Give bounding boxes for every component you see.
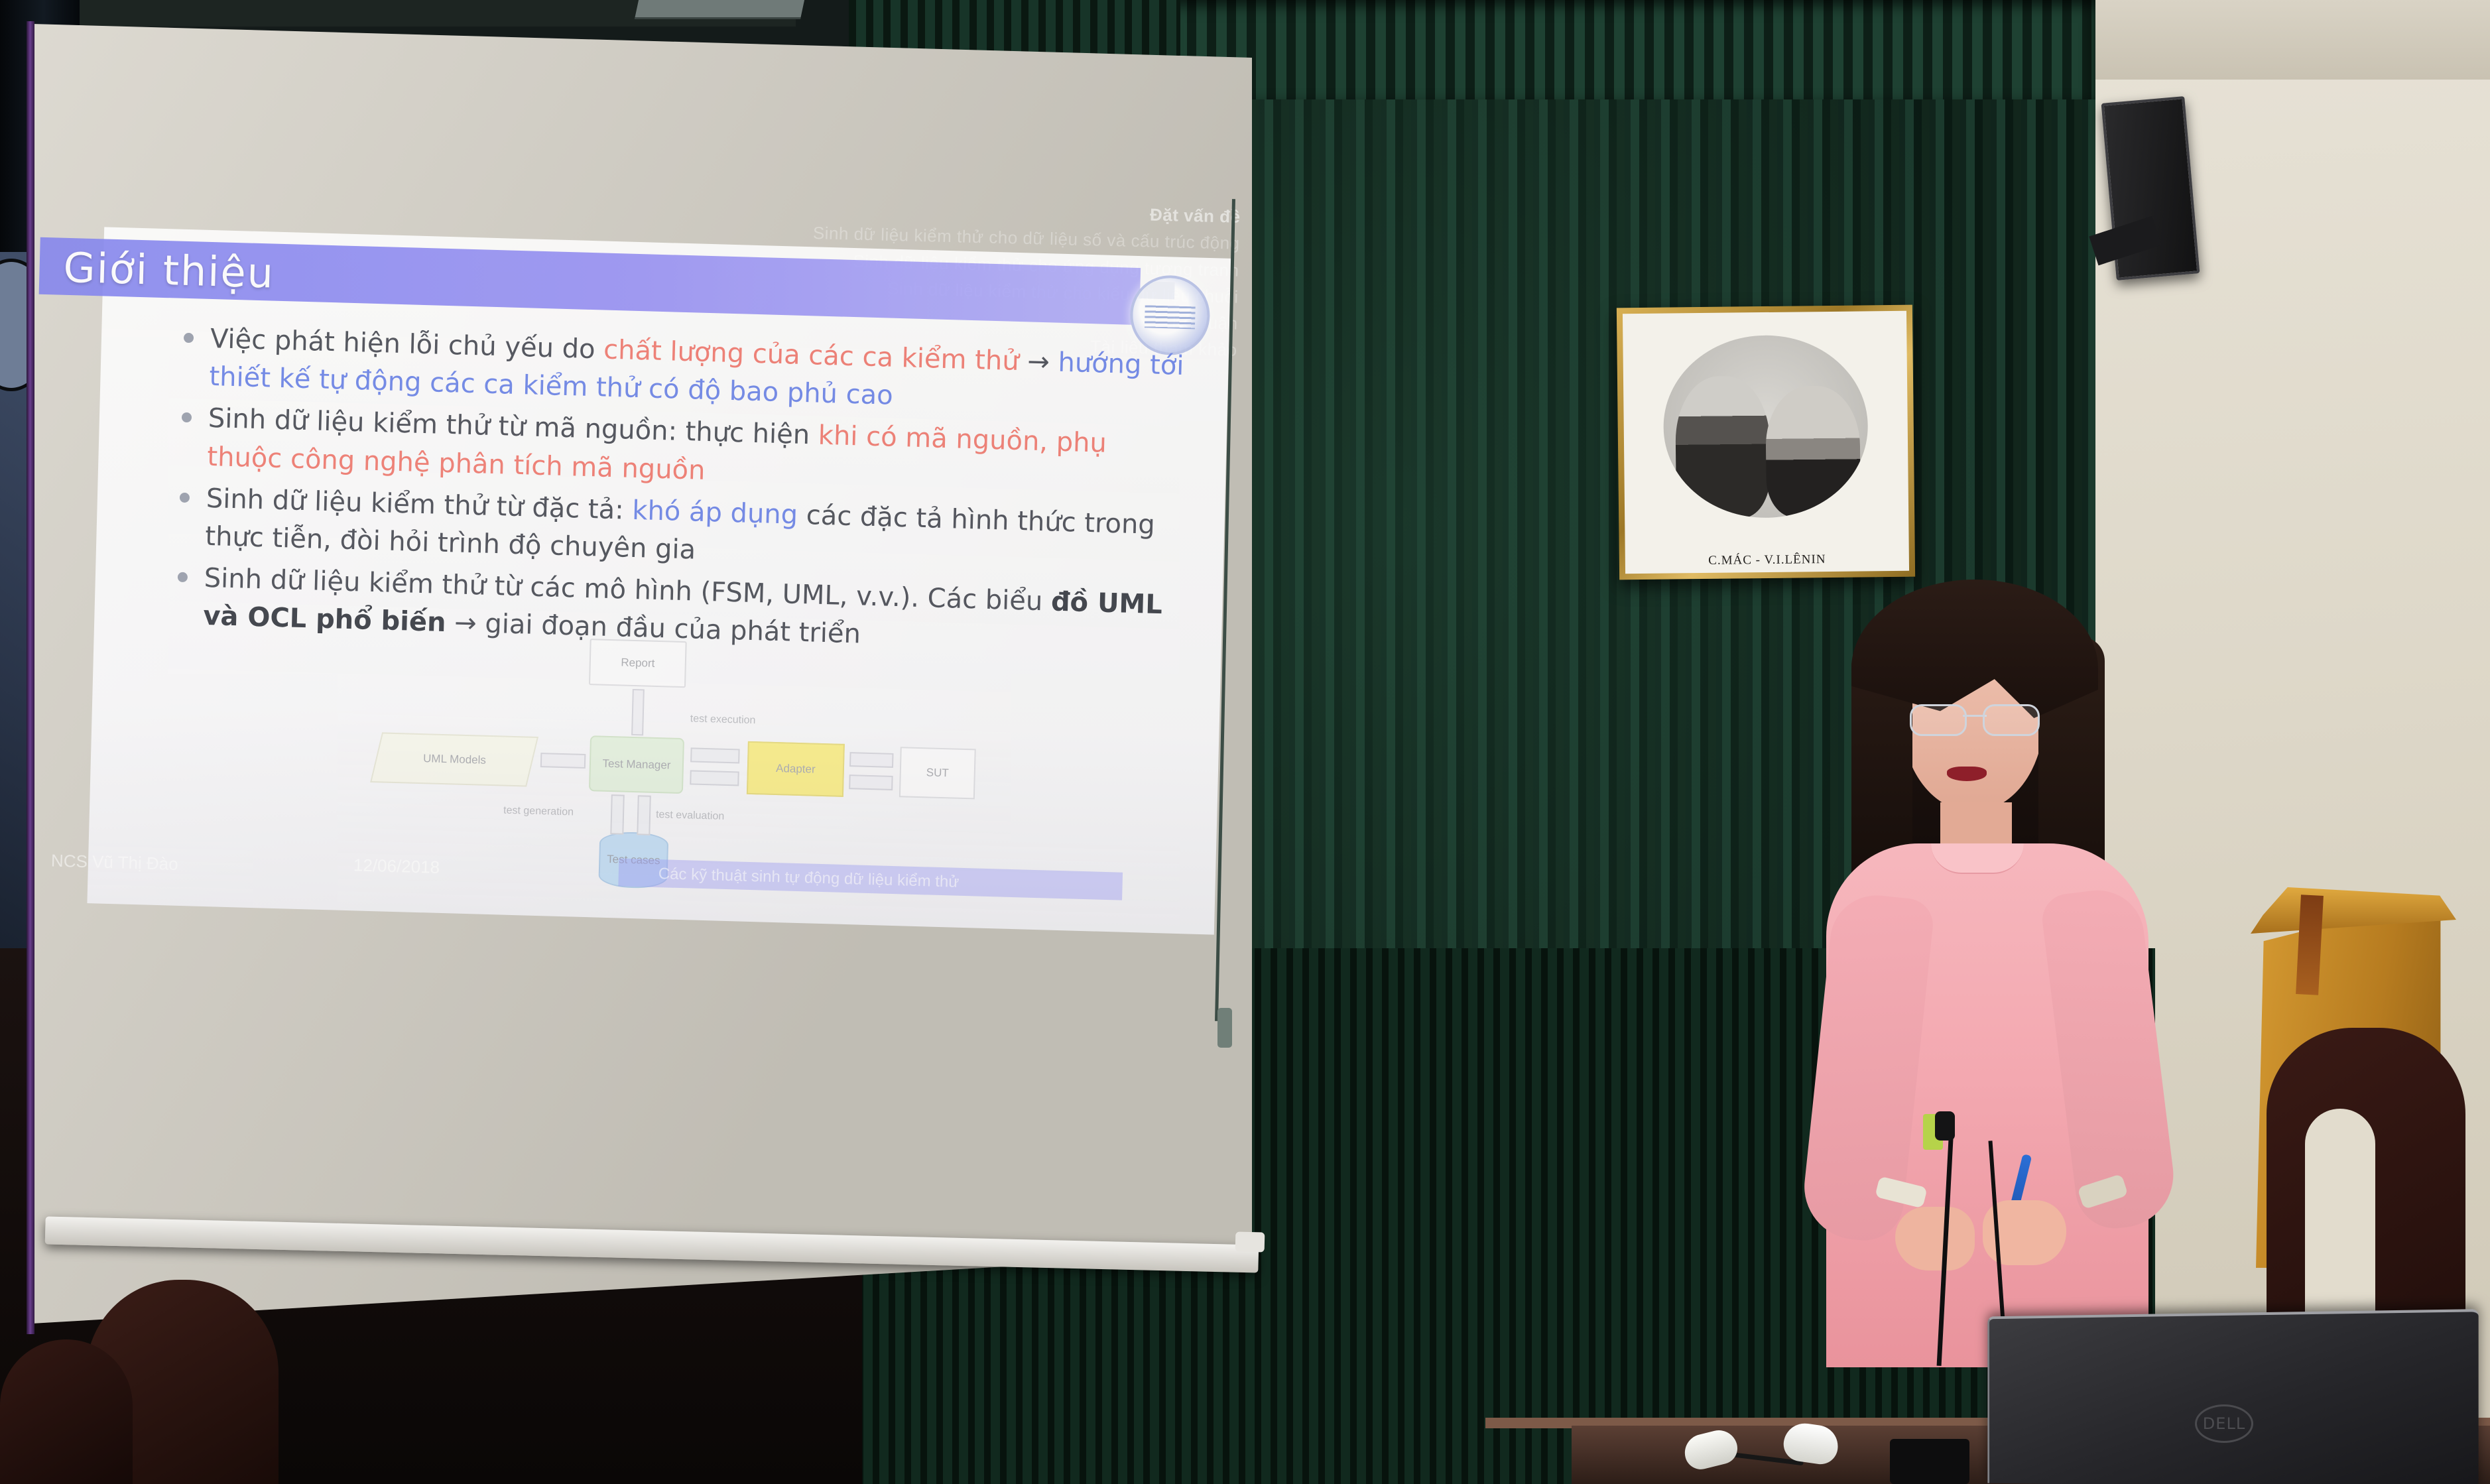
bullet-dot-icon <box>180 493 190 503</box>
logo-bars-shape <box>1145 305 1196 329</box>
active-slide: Giới thiệu Việc phát hiện lỗi chủ yếu do… <box>87 227 1231 934</box>
diagram-arrow-tm-to-testcases <box>610 794 625 835</box>
portrait-mat: C.MÁC - V.I.LÊNIN <box>1623 311 1909 574</box>
diagram-arrow-adapter-to-sut <box>849 752 894 768</box>
slide-footer-running-title: Các kỹ thuật sinh tự động dữ liệu kiểm t… <box>658 865 959 892</box>
bullet-0-seg-0: Việc phát hiện lỗi chủ yếu do <box>210 324 603 365</box>
slide-footer-date: 12/06/2018 <box>353 855 440 878</box>
presenter-glasses <box>1910 704 2040 733</box>
chair-left-secondary <box>0 1339 133 1484</box>
logo-flag-shape <box>1139 281 1175 299</box>
diagram-label-test-execution: test execution <box>690 713 756 727</box>
microphone-head <box>1935 1111 1955 1141</box>
screen-cord-handle[interactable] <box>1217 1008 1232 1048</box>
bullet-2-seg-1: khó áp dụng <box>632 495 798 530</box>
screen-left-edge <box>27 21 34 1334</box>
dell-logo-icon: DELL <box>2195 1404 2253 1443</box>
diagram-test-manager-label: Test Manager <box>602 757 670 772</box>
projection-screen: Đặt vấn đề Sinh dữ liệu kiểm thử cho dữ … <box>32 24 1252 1350</box>
curtain-top-fold <box>1167 0 2095 99</box>
diagram-label-test-generation: test generation <box>503 805 574 819</box>
ceiling-vent <box>635 0 804 19</box>
diagram-arrow-tm-to-adapter <box>690 747 740 763</box>
bullet-dot-icon <box>178 572 188 582</box>
portrait-caption: C.MÁC - V.I.LÊNIN <box>1625 552 1909 569</box>
slide-footer-author: NCS Vũ Thị Đào <box>51 851 178 875</box>
bullet-0-seg-2: → <box>1019 346 1058 378</box>
portrait-figure-marx <box>1675 376 1771 519</box>
glasses-lens-right <box>1983 704 2040 736</box>
presentation-room-scene: Đặt vấn đề Sinh dữ liệu kiểm thử cho dữ … <box>0 0 2490 1484</box>
diagram-node-sut: SUT <box>899 747 976 799</box>
diagram-report-label: Report <box>621 656 655 670</box>
diagram-arrow-up-report <box>631 689 645 735</box>
portrait-photo-oval <box>1662 335 1869 519</box>
diagram-node-report: Report <box>589 639 687 688</box>
bullet-dot-icon <box>182 412 192 422</box>
presenter-hand-left <box>1895 1207 1975 1270</box>
screen-pull-knob[interactable] <box>1235 1231 1265 1252</box>
diagram-arrow-sut-to-adapter <box>849 774 893 790</box>
presenter-lips <box>1947 767 1987 781</box>
laptop[interactable] <box>1987 1309 2478 1484</box>
framed-portrait: C.MÁC - V.I.LÊNIN <box>1617 305 1915 580</box>
camera-device <box>1890 1439 1969 1484</box>
presenter <box>1817 584 2281 1366</box>
diagram-sut-label: SUT <box>926 767 949 780</box>
diagram-node-test-manager: Test Manager <box>589 735 684 794</box>
slide-footer-running-bar: Các kỹ thuật sinh tự động dữ liệu kiểm t… <box>618 858 1123 900</box>
mbt-architecture-diagram: Report UML Models Test Manager Adapter S… <box>374 633 950 867</box>
diagram-arrow-adapter-to-tm <box>690 770 739 786</box>
bullet-dot-icon <box>184 333 194 343</box>
diagram-uml-label: UML Models <box>422 752 485 767</box>
diagram-arrow-testcases-to-tm <box>637 795 651 835</box>
diagram-label-test-evaluation: test evaluation <box>656 809 725 823</box>
bullet-2-seg-0: Sinh dữ liệu kiểm thử từ đặc tả: <box>206 483 633 526</box>
glasses-lens-left <box>1910 704 1967 736</box>
slide-bullet-list: Việc phát hiện lỗi chủ yếu do chất lượng… <box>167 319 1190 666</box>
diagram-arrow-uml-to-tm <box>540 753 586 769</box>
diagram-node-uml-models: UML Models <box>370 732 538 786</box>
diagram-node-adapter: Adapter <box>747 741 845 797</box>
bullet-0-seg-1: chất lượng của các ca kiểm thử <box>603 335 1020 377</box>
diagram-adapter-label: Adapter <box>776 762 816 776</box>
university-seal-logo-icon <box>1129 275 1211 356</box>
slide-title: Giới thiệu <box>63 243 275 298</box>
portrait-figure-lenin <box>1765 386 1861 518</box>
